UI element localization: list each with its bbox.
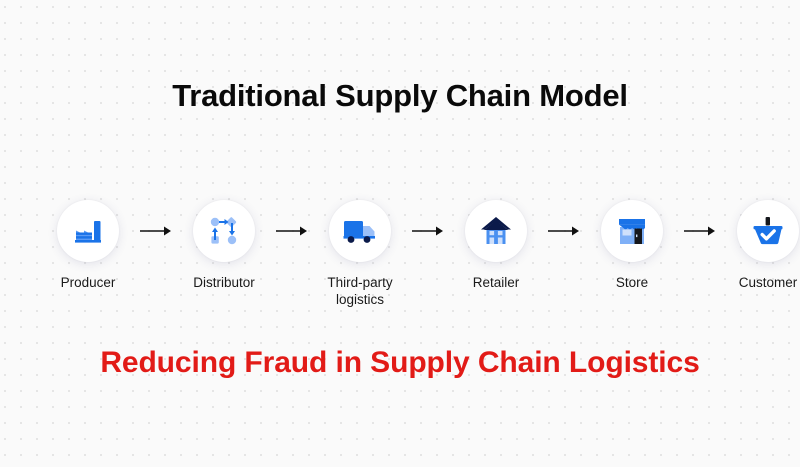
flow-arrow-5 [680,200,720,262]
headline: Reducing Fraud in Supply Chain Logistics [90,340,710,386]
node-circle [465,200,527,262]
distribution-network-icon [208,215,240,247]
delivery-truck-icon [342,216,378,246]
flow-node-label: Producer [61,274,116,291]
node-circle [737,200,799,262]
flow-node-label: Third-party logistics [312,274,408,308]
node-circle [57,200,119,262]
house-store-icon [479,215,513,247]
storefront-icon [616,215,648,247]
flow-node-distributor[interactable]: Distributor [176,200,272,291]
node-circle [601,200,663,262]
flow-node-customer[interactable]: Customer [720,200,800,291]
flow-arrow-3 [408,200,448,262]
node-circle [329,200,391,262]
flow-arrow-4 [544,200,584,262]
shopping-basket-check-icon [751,215,785,247]
factory-icon [71,214,105,248]
flow-node-label: Distributor [193,274,255,291]
page-title: Traditional Supply Chain Model [0,76,800,116]
flow-node-retailer[interactable]: Retailer [448,200,544,291]
flow-arrow-2 [272,200,312,262]
flow-node-label: Retailer [473,274,520,291]
supply-chain-flow: Producer [40,200,760,308]
flow-node-label: Customer [739,274,798,291]
flow-node-third-party-logistics[interactable]: Third-party logistics [312,200,408,308]
flow-arrow-1 [136,200,176,262]
flow-node-label: Store [616,274,648,291]
node-circle [193,200,255,262]
slide-canvas: Traditional Supply Chain Model Producer [0,0,800,467]
flow-node-producer[interactable]: Producer [40,200,136,291]
flow-node-store[interactable]: Store [584,200,680,291]
